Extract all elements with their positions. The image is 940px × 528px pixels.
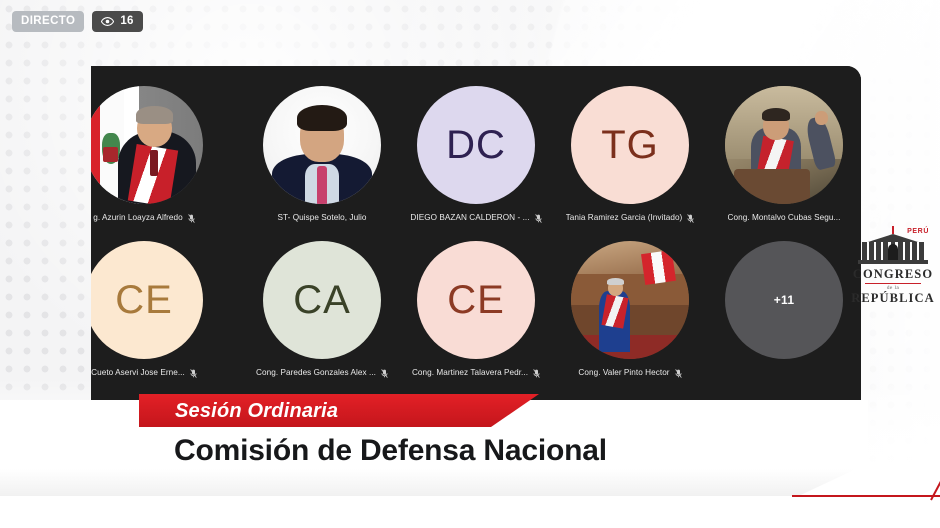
overflow-count-label: +11 [774, 294, 795, 306]
banner-red-rule [792, 495, 940, 497]
participant-name: Cueto Aservi Jose Erne... [91, 369, 185, 377]
participant-name: DIEGO BAZÁN CALDERÓN - ... [410, 214, 529, 222]
participant-tile[interactable]: CE Cueto Aservi Jose Erne... [91, 233, 221, 388]
live-badge-label: DIRECTO [21, 16, 75, 28]
participant-tile[interactable]: ST- Quispe Sotelo, Julio [245, 78, 399, 233]
participant-name: Cong. Montalvo Cubas Segu... [728, 214, 841, 222]
mic-muted-icon [533, 369, 540, 378]
participant-name-row: DIEGO BAZÁN CALDERÓN - ... [410, 214, 541, 223]
video-conference-panel[interactable]: g. Azurin Loayza Alfredo [91, 66, 861, 414]
participant-name-row: ST- Quispe Sotelo, Julio [277, 214, 366, 222]
participant-name-row: Cong. Montalvo Cubas Segu... [728, 214, 841, 222]
congress-building-icon [858, 232, 928, 265]
participant-name: Cong. Martinez Talavera Pedr... [412, 369, 528, 377]
avatar-initials: CA [293, 280, 351, 320]
eye-icon [101, 17, 114, 26]
congreso-republica-logo: PERÚ CONGRESO de la REPÚBLICA [853, 222, 933, 306]
participant-name-row: g. Azurin Loayza Alfredo [93, 214, 195, 223]
avatar-initials: DC [446, 125, 506, 165]
session-type-ribbon: Sesión Ordinaria [139, 394, 539, 427]
viewer-count-label: 16 [120, 16, 133, 28]
participant-tile[interactable]: Cong. Montalvo Cubas Segu... [707, 78, 861, 233]
mic-muted-icon [188, 214, 195, 223]
avatar: DC [417, 86, 535, 204]
logo-line-congreso: CONGRESO [853, 267, 933, 282]
overflow-avatar: +11 [725, 241, 843, 359]
avatar: CA [263, 241, 381, 359]
participant-name: Cong. Paredes Gonzales Alex ... [256, 369, 376, 377]
mic-muted-icon [535, 214, 542, 223]
avatar-initials: CE [447, 280, 505, 320]
participant-name: ST- Quispe Sotelo, Julio [277, 214, 366, 222]
avatar [263, 86, 381, 204]
participant-name: g. Azurin Loayza Alfredo [93, 214, 183, 222]
mic-muted-icon [381, 369, 388, 378]
participant-photo [571, 241, 689, 359]
participant-name-row: Cong. Valer Pinto Hector [578, 369, 681, 378]
mic-muted-icon [675, 369, 682, 378]
avatar: CE [91, 241, 203, 359]
participant-tile[interactable]: g. Azurin Loayza Alfredo [91, 78, 221, 233]
participant-photo [263, 86, 381, 204]
broadcast-stage: DIRECTO 16 [0, 0, 940, 528]
participant-name-row: Cueto Aservi Jose Erne... [91, 369, 197, 378]
participant-name-row: Cong. Martinez Talavera Pedr... [412, 369, 540, 378]
commission-title: Comisión de Defensa Nacional [174, 436, 607, 466]
participant-name-row: Tania Ramirez Garcia (Invitado) [566, 214, 695, 223]
participant-overflow-tile[interactable]: +11 [707, 233, 861, 388]
mic-muted-icon [190, 369, 197, 378]
participant-photo [91, 86, 203, 204]
mic-muted-icon [687, 214, 694, 223]
avatar [91, 86, 203, 204]
logo-divider-top [865, 283, 921, 284]
participant-grid: g. Azurin Loayza Alfredo [91, 78, 861, 388]
avatar [725, 86, 843, 204]
session-type-label: Sesión Ordinaria [175, 401, 338, 421]
participant-name: Cong. Valer Pinto Hector [578, 369, 669, 377]
live-badge: DIRECTO [12, 11, 84, 32]
avatar [571, 241, 689, 359]
avatar-initials: CE [115, 280, 173, 320]
participant-tile[interactable]: DC DIEGO BAZÁN CALDERÓN - ... [399, 78, 553, 233]
participant-name-row: Cong. Paredes Gonzales Alex ... [256, 369, 388, 378]
stream-status-bar: DIRECTO 16 [12, 11, 143, 32]
avatar: CE [417, 241, 535, 359]
participant-tile[interactable]: CE Cong. Martinez Talavera Pedr... [399, 233, 553, 388]
lower-third-banner: Sesión Ordinaria Comisión de Defensa Nac… [0, 394, 940, 528]
logo-line-republica: REPÚBLICA [851, 291, 935, 306]
participant-tile[interactable]: Cong. Valer Pinto Hector [553, 233, 707, 388]
avatar: TG [571, 86, 689, 204]
video-grid-background: g. Azurin Loayza Alfredo [91, 66, 861, 414]
participant-tile[interactable]: TG Tania Ramirez Garcia (Invitado) [553, 78, 707, 233]
participant-tile[interactable]: CA Cong. Paredes Gonzales Alex ... [245, 233, 399, 388]
viewer-count-badge: 16 [92, 11, 142, 32]
avatar-initials: TG [601, 125, 659, 165]
participant-photo [725, 86, 843, 204]
banner-red-diagonal [930, 457, 940, 500]
participant-name: Tania Ramirez Garcia (Invitado) [566, 214, 683, 222]
